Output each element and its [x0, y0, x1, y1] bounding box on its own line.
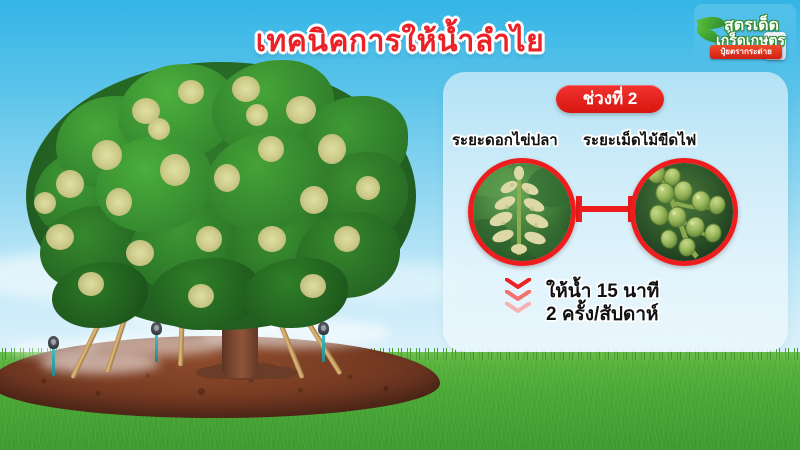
- young-fruit-illustration: [630, 158, 733, 261]
- flower-panicle: [196, 226, 222, 252]
- flower-panicle: [34, 192, 56, 214]
- sprinkler-stem: [322, 334, 325, 362]
- sprinkler-head-icon: [151, 322, 162, 335]
- sprinkler-stem: [155, 334, 158, 362]
- flower-panicle: [214, 164, 240, 192]
- flower-panicle: [126, 240, 154, 266]
- sprinkler-stem: [52, 348, 55, 376]
- flower-panicle: [178, 80, 204, 104]
- chevron-down-icon: [505, 278, 531, 289]
- stage-badge-label: ช่วงที่ 2: [556, 85, 664, 113]
- flower-panicle: [286, 96, 316, 124]
- caption-left: ระยะดอกไข่ปลา: [452, 128, 558, 152]
- flower-panicle: [148, 118, 170, 140]
- flower-panicle: [356, 176, 380, 200]
- stage-badge: ช่วงที่ 2: [556, 85, 664, 113]
- chevron-down-icon: [505, 302, 531, 313]
- caption-right: ระยะเม็ดไม้ขีดไฟ: [583, 128, 696, 152]
- logo-ribbon-label: ปุ๋ยตรากระต่าย: [710, 45, 782, 59]
- flower-panicle: [334, 226, 360, 252]
- flower-panicle-illustration: [468, 158, 571, 261]
- chevron-group: [505, 278, 535, 320]
- flower-panicle: [92, 140, 122, 170]
- flower-panicle: [300, 274, 326, 298]
- flower-panicle: [78, 272, 104, 296]
- flower-panicle: [318, 134, 346, 164]
- flower-panicle: [46, 224, 74, 250]
- brand-logo[interactable]: สูตรเด็ด เกร็ดเกษตร ปุ๋ยตรากระต่าย: [694, 4, 796, 62]
- tree-root: [252, 366, 298, 379]
- longan-young-fruit-photo: [630, 158, 738, 266]
- sprinkler-head-icon: [48, 336, 59, 349]
- watering-line-2: 2 ครั้ง/สัปดาห์: [546, 299, 659, 329]
- chevron-down-icon: [505, 290, 531, 301]
- sprinkler-head-icon: [318, 322, 329, 335]
- infographic-canvas: เทคนิคการให้น้ำลำไย สูตรเด็ด เกร็ดเกษตร …: [0, 0, 800, 450]
- flower-panicle: [232, 76, 260, 102]
- flower-panicle: [56, 170, 84, 198]
- flower-panicle: [106, 188, 132, 216]
- flower-panicle: [188, 284, 214, 308]
- page-title: เทคนิคการให้น้ำลำไย: [0, 18, 800, 65]
- red-connector-bar-icon: [576, 206, 634, 212]
- flower-panicle: [300, 186, 328, 214]
- flower-panicle: [160, 154, 190, 186]
- longan-flower-panicle-photo: [468, 158, 576, 266]
- flower-panicle: [258, 226, 286, 252]
- flower-panicle: [246, 104, 268, 126]
- logo-ribbon: ปุ๋ยตรากระต่าย: [710, 45, 782, 59]
- flower-panicle: [258, 136, 284, 162]
